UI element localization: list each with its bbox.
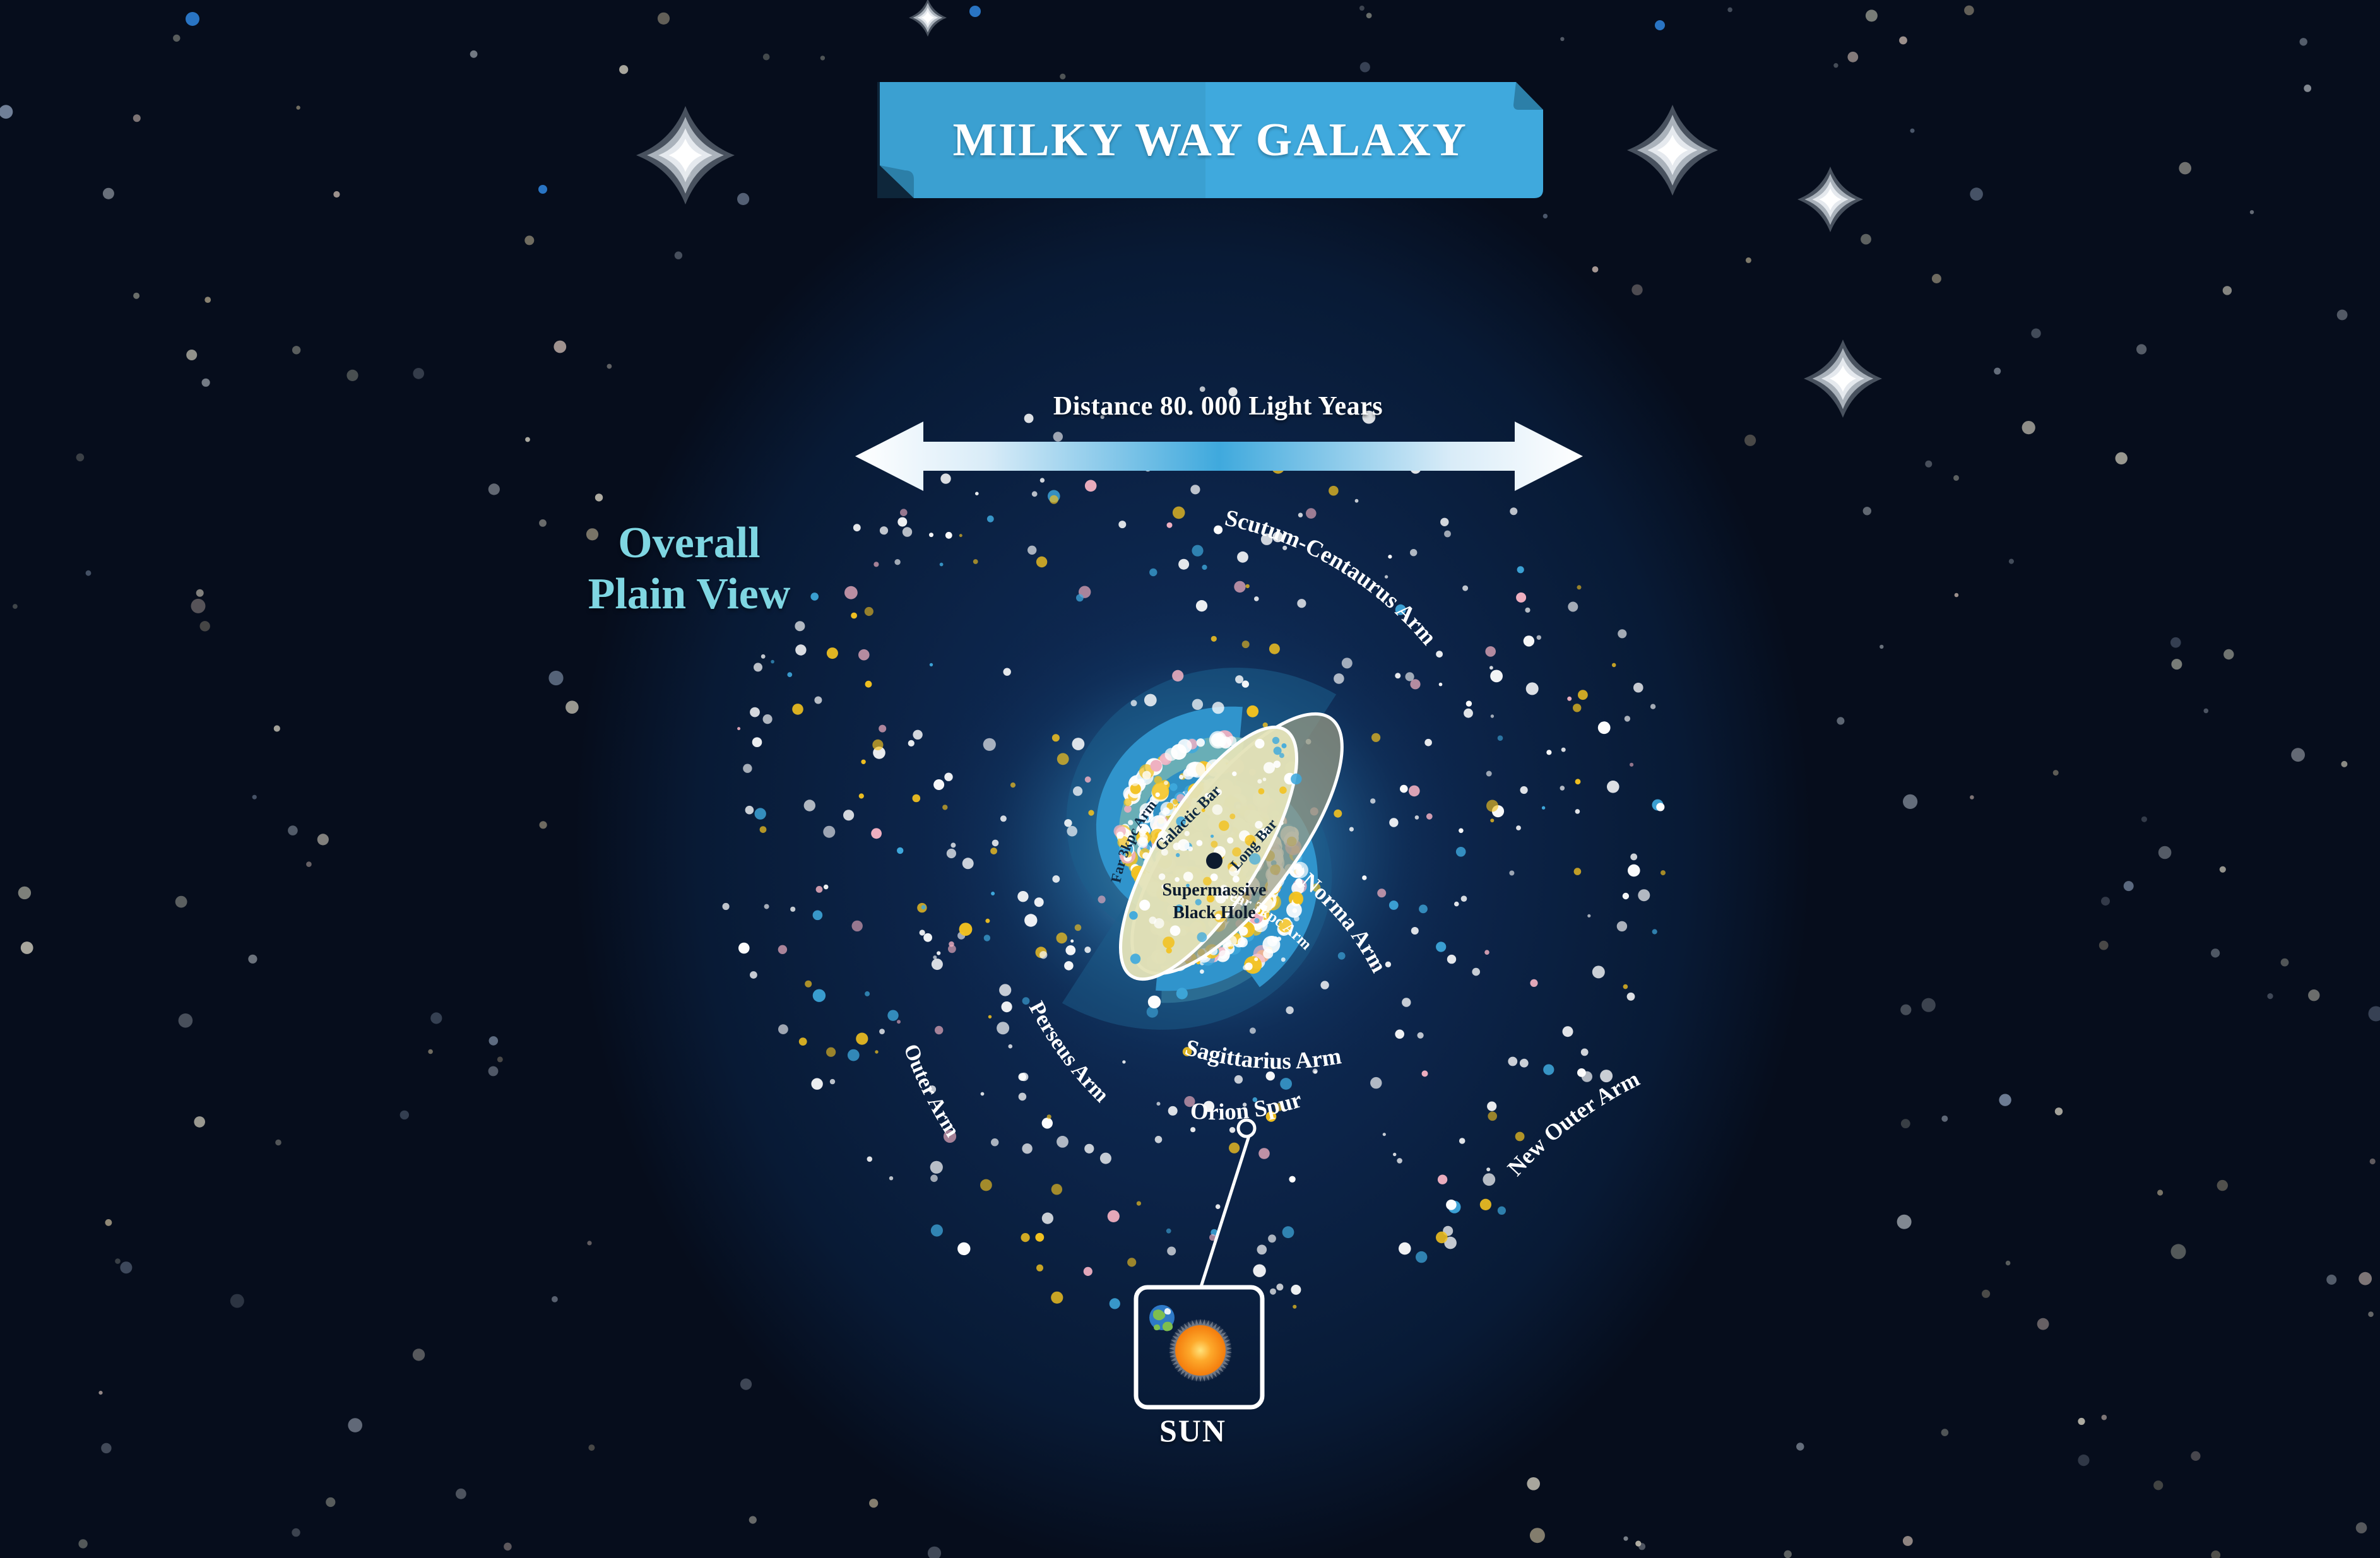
caption-line-2: Plain View — [525, 569, 853, 620]
galaxy-illustration: Scutum-Centaurus Arm Norma Arm Near 3kpc… — [0, 0, 2380, 1558]
infographic-canvas: Scutum-Centaurus Arm Norma Arm Near 3kpc… — [0, 0, 2380, 1558]
label-supermassive-line1: Supermassive — [1163, 880, 1267, 900]
distance-label: Distance 80. 000 Light Years — [839, 391, 1597, 422]
supermassive-black-hole-dot — [1206, 853, 1223, 869]
caption-line-1: Overall — [525, 517, 853, 569]
title-banner: MILKY WAY GALAXY — [877, 77, 1543, 203]
label-supermassive-line2: Black Hole — [1173, 903, 1255, 923]
sun-label: SUN — [1098, 1412, 1288, 1449]
overall-plain-view-caption: Overall Plain View — [525, 517, 853, 620]
page-title: MILKY WAY GALAXY — [877, 77, 1543, 203]
